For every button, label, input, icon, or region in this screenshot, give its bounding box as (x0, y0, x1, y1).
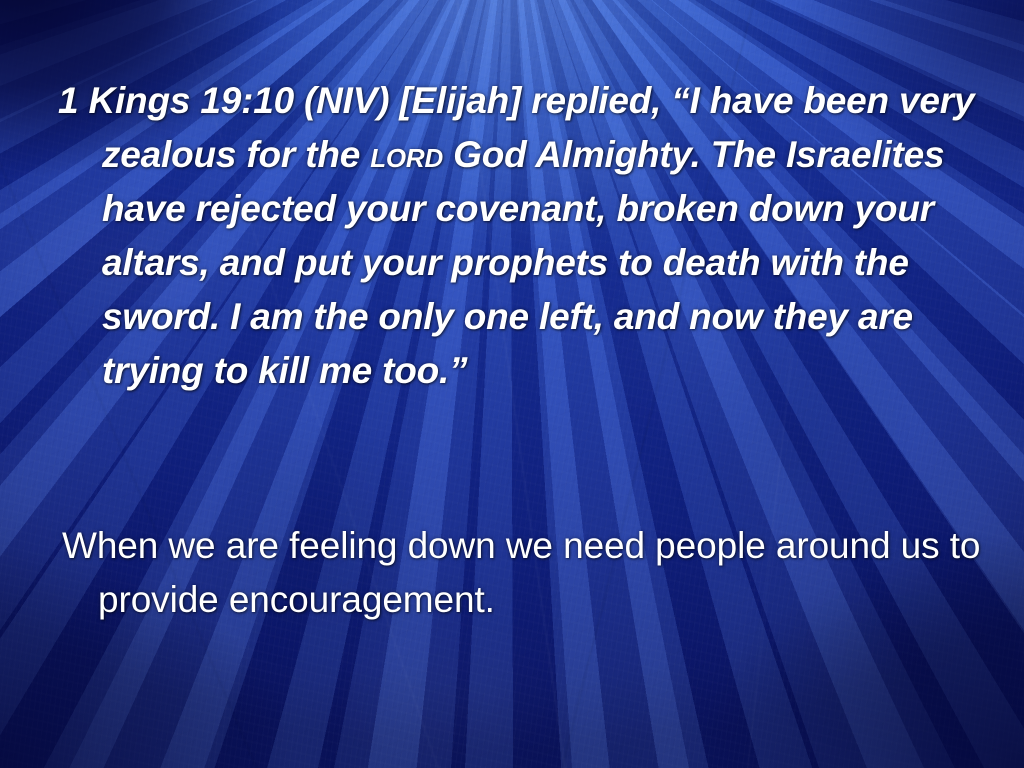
commentary-paragraph: When we are feeling down we need people … (62, 519, 1010, 627)
presentation-slide: 1 Kings 19:10 (NIV) [Elijah] replied, “I… (0, 0, 1024, 768)
slide-content: 1 Kings 19:10 (NIV) [Elijah] replied, “I… (0, 0, 1024, 768)
scripture-quote-paragraph: 1 Kings 19:10 (NIV) [Elijah] replied, “I… (58, 74, 1006, 398)
divine-name-lord-smallcaps: Lord (370, 134, 443, 175)
